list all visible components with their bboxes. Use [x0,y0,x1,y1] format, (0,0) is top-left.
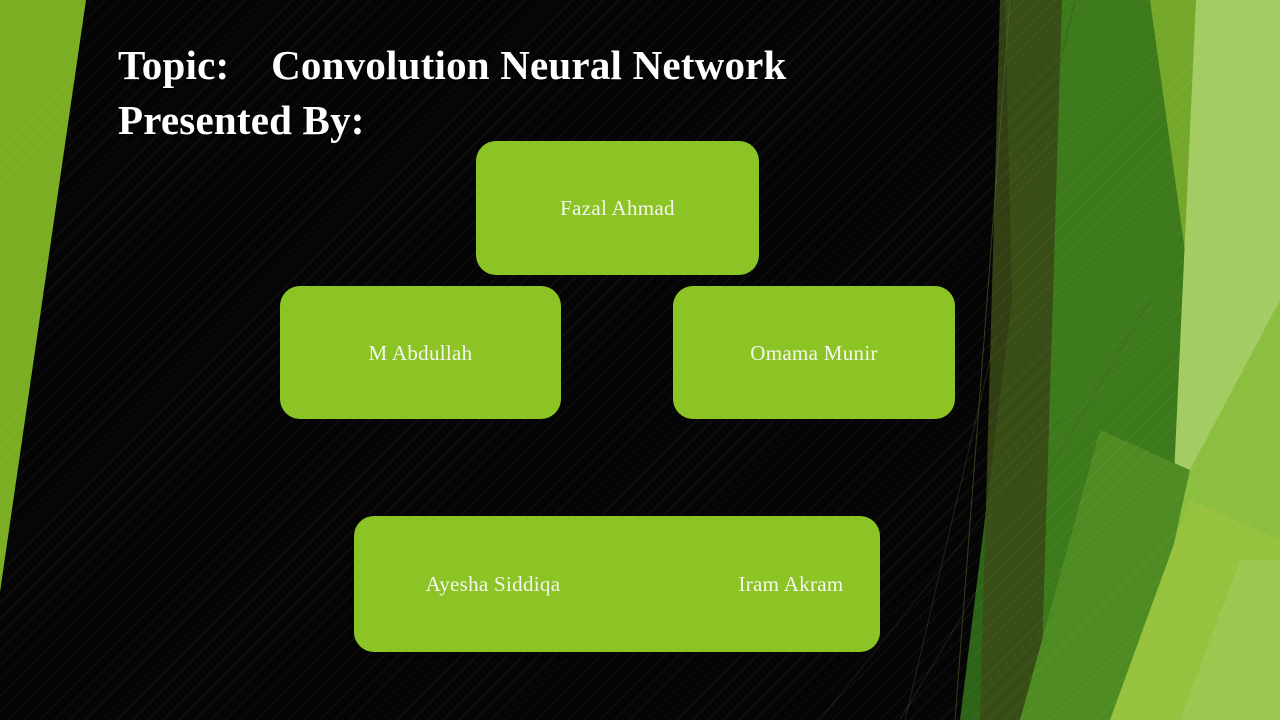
page-title: Topic: Convolution Neural Network [118,38,958,93]
name-card-label: Iram Akram [738,571,843,597]
slide-content: Topic: Convolution Neural Network Presen… [0,0,1280,720]
name-card-label: Ayesha Siddiqa [426,571,561,597]
slide-title-block: Topic: Convolution Neural Network Presen… [118,38,958,148]
name-card-label: M Abdullah [369,340,473,366]
name-card-label: Omama Munir [750,340,878,366]
presentation-slide: Topic: Convolution Neural Network Presen… [0,0,1280,720]
name-card-label: Fazal Ahmad [560,195,675,221]
presented-by-label: Presented By: [118,93,958,148]
name-card-omama-munir[interactable]: Omama Munir [673,286,955,419]
name-card-iram-akram[interactable]: Iram Akram [590,516,880,652]
name-card-fazal-ahmad[interactable]: Fazal Ahmad [476,141,759,275]
name-card-m-abdullah[interactable]: M Abdullah [280,286,561,419]
